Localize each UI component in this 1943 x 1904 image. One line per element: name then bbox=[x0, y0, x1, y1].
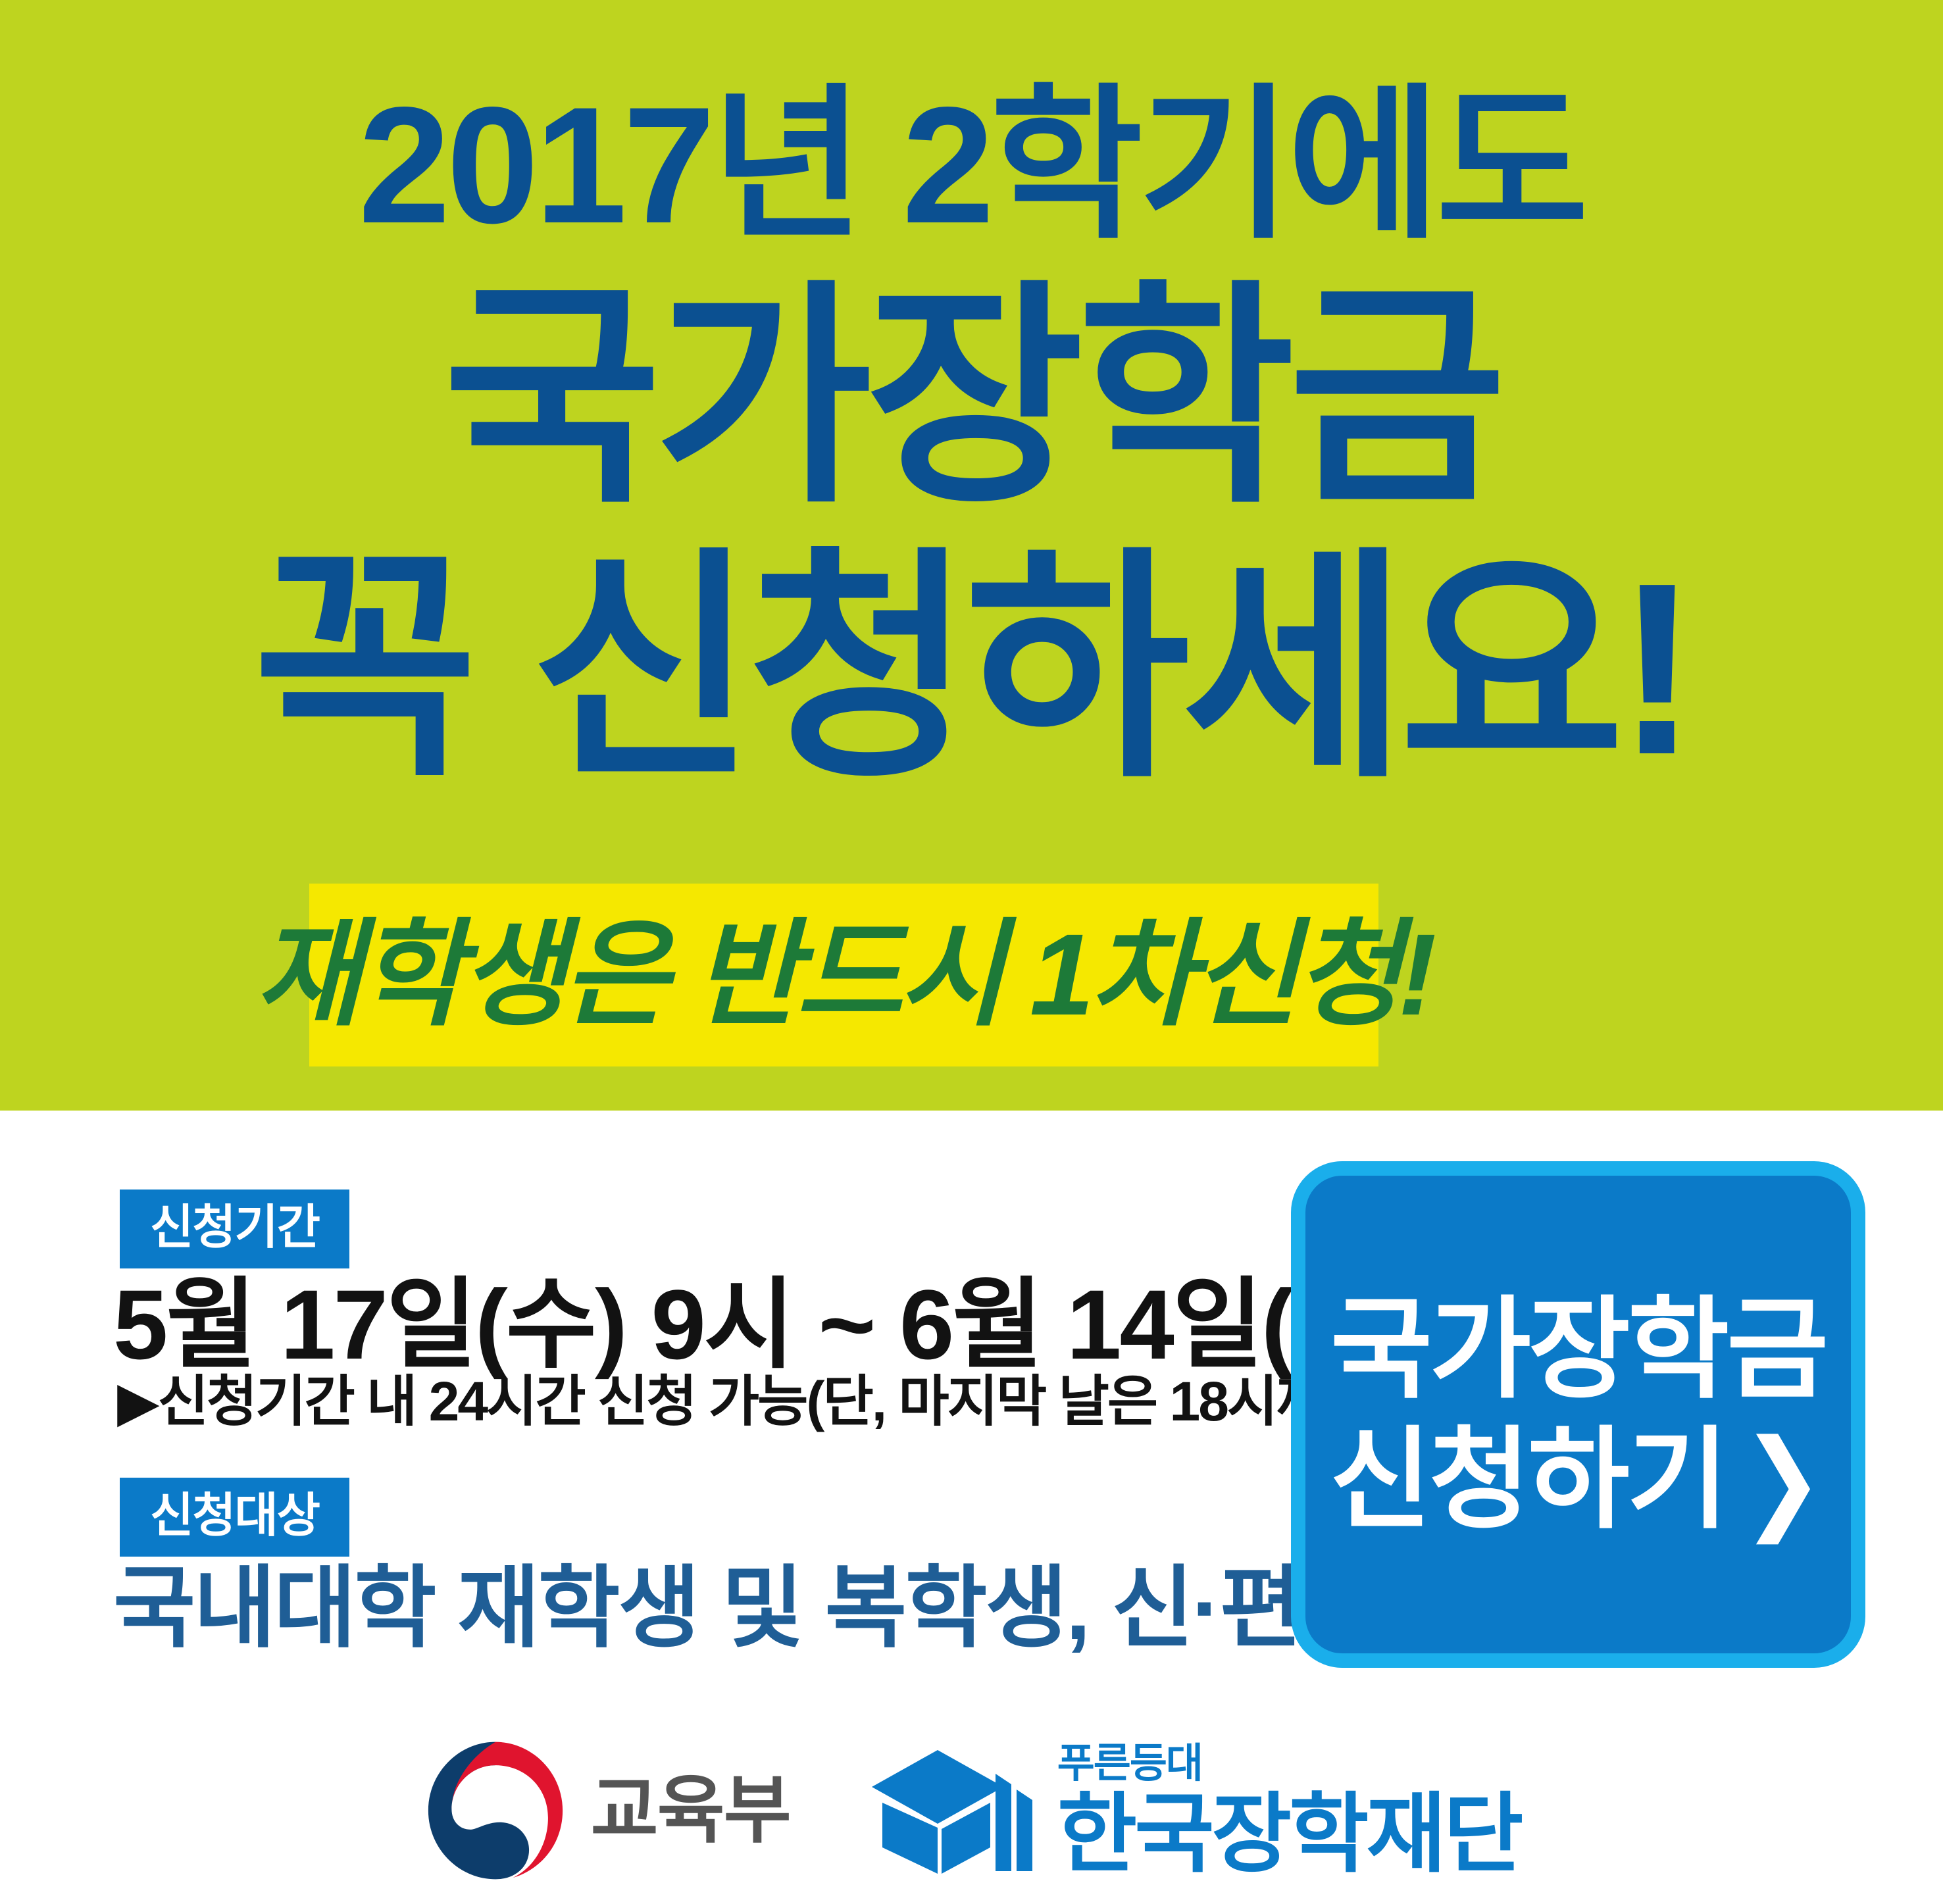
hero-highlight-text: 재학생은 반드시 1차신청! bbox=[255, 917, 1433, 1033]
kosaf-text-block: 푸른등대 한국장학재단 bbox=[1057, 1743, 1521, 1878]
hero-headline-cta: 꼭 신청하세요! bbox=[0, 546, 1943, 791]
cta-line-2-wrapper: 신청하기 ❯ bbox=[1330, 1415, 1827, 1545]
application-period-badge: 신청기간 bbox=[120, 1190, 349, 1268]
ministry-of-education-label: 교육부 bbox=[591, 1774, 790, 1847]
apply-scholarship-button[interactable]: 국가장학금 신청하기 ❯ bbox=[1291, 1161, 1865, 1668]
cta-line-2: 신청하기 bbox=[1330, 1415, 1726, 1545]
chevron-right-icon: ❯ bbox=[1741, 1424, 1822, 1535]
application-target-badge: 신청대상 bbox=[120, 1478, 349, 1557]
kosaf-name: 한국장학재단 bbox=[1057, 1791, 1521, 1878]
cta-line-1: 국가장학금 bbox=[1330, 1284, 1826, 1415]
application-period-note: ▶신청기간 내 24시간 신청 가능(단, 마지막 날은 18시까지) bbox=[117, 1374, 1390, 1429]
kosaf-logo: 푸른등대 한국장학재단 bbox=[869, 1743, 1521, 1878]
footer-logos: 교육부 푸른등대 한국장학재단 bbox=[0, 1717, 1943, 1904]
hero-headline-main: 국가장학금 bbox=[0, 280, 1943, 516]
ministry-of-education-logo: 교육부 bbox=[422, 1738, 790, 1884]
hero-headline-year: 2017년 2학기에도 bbox=[0, 83, 1943, 249]
hero-highlight-bar: 재학생은 반드시 1차신청! bbox=[309, 884, 1378, 1066]
taegeuk-icon bbox=[422, 1738, 568, 1884]
hero-section: 2017년 2학기에도 국가장학금 꼭 신청하세요! 재학생은 반드시 1차신청… bbox=[0, 0, 1943, 1111]
kosaf-subtitle: 푸른등대 bbox=[1057, 1743, 1521, 1784]
graduation-cap-icon bbox=[869, 1745, 1040, 1876]
scholarship-promo-banner: 2017년 2학기에도 국가장학금 꼭 신청하세요! 재학생은 반드시 1차신청… bbox=[0, 0, 1943, 1904]
